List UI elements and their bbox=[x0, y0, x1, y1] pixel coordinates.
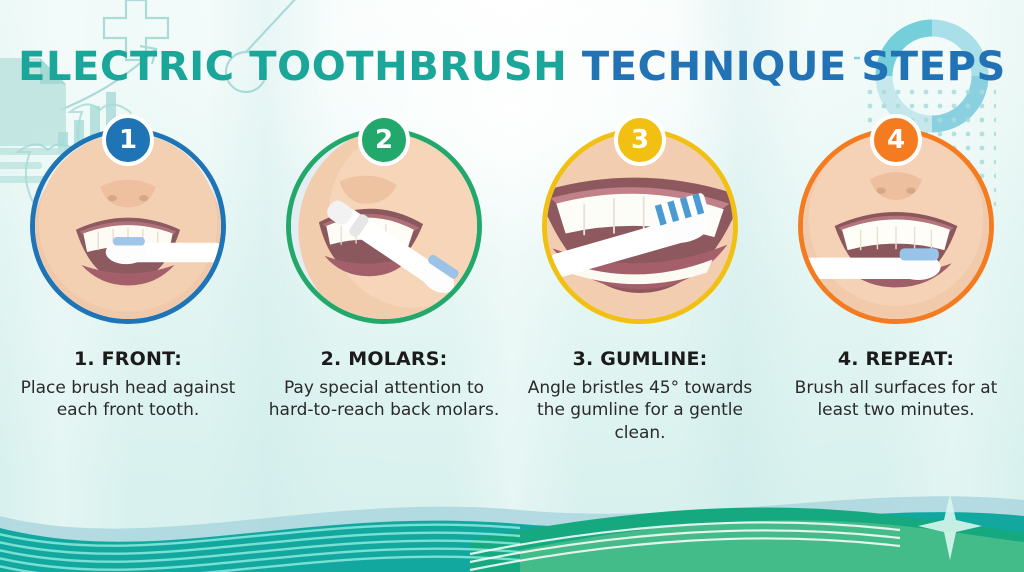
step-card-4: 4 4. REPEAT: Brush all surfaces for at l… bbox=[768, 128, 1024, 444]
steps-row: 1 1. FRONT: Place brush head against eac… bbox=[0, 128, 1024, 444]
step-caption-2: 2. MOLARS: Pay special attention to hard… bbox=[262, 348, 506, 422]
title-part-two: TECHNIQUE STEPS bbox=[582, 44, 1006, 90]
step-caption-title-4: 4. REPEAT: bbox=[774, 348, 1018, 370]
step-caption-title-2: 2. MOLARS: bbox=[262, 348, 506, 370]
step-card-1: 1 1. FRONT: Place brush head against eac… bbox=[0, 128, 256, 444]
infographic-canvas: ELECTRIC TOOTHBRUSH TECHNIQUE STEPS bbox=[0, 0, 1024, 572]
step-caption-4: 4. REPEAT: Brush all surfaces for at lea… bbox=[774, 348, 1018, 422]
step-number-3: 3 bbox=[631, 125, 649, 155]
step-badge-3: 3 bbox=[614, 114, 666, 166]
decoration-bottom-waves bbox=[0, 476, 1024, 572]
step-photo-wrapper-4: 4 bbox=[798, 128, 994, 324]
step-badge-1: 1 bbox=[102, 114, 154, 166]
step-caption-1: 1. FRONT: Place brush head against each … bbox=[6, 348, 250, 422]
step-caption-title-1: 1. FRONT: bbox=[6, 348, 250, 370]
step-caption-body-4: Brush all surfaces for at least two minu… bbox=[774, 377, 1018, 422]
step-caption-body-2: Pay special attention to hard-to-reach b… bbox=[262, 377, 506, 422]
step-badge-4: 4 bbox=[870, 114, 922, 166]
step-caption-title-3: 3. GUMLINE: bbox=[518, 348, 762, 370]
step-number-2: 2 bbox=[375, 125, 393, 155]
step-caption-body-1: Place brush head against each front toot… bbox=[6, 377, 250, 422]
step-number-4: 4 bbox=[887, 125, 905, 155]
title-part-one: ELECTRIC TOOTHBRUSH bbox=[18, 44, 582, 90]
step-card-3: 3 3. GUMLINE: Angle bristles 45° towards… bbox=[512, 128, 768, 444]
step-number-1: 1 bbox=[119, 125, 137, 155]
step-caption-3: 3. GUMLINE: Angle bristles 45° towards t… bbox=[518, 348, 762, 444]
step-photo-wrapper-2: 2 bbox=[286, 128, 482, 324]
step-photo-wrapper-1: 1 bbox=[30, 128, 226, 324]
step-card-2: 2 2. MOLARS: Pay special attention to ha… bbox=[256, 128, 512, 444]
step-caption-body-3: Angle bristles 45° towards the gumline f… bbox=[518, 377, 762, 444]
step-photo-wrapper-3: 3 bbox=[542, 128, 738, 324]
step-badge-2: 2 bbox=[358, 114, 410, 166]
page-title: ELECTRIC TOOTHBRUSH TECHNIQUE STEPS bbox=[0, 44, 1024, 90]
